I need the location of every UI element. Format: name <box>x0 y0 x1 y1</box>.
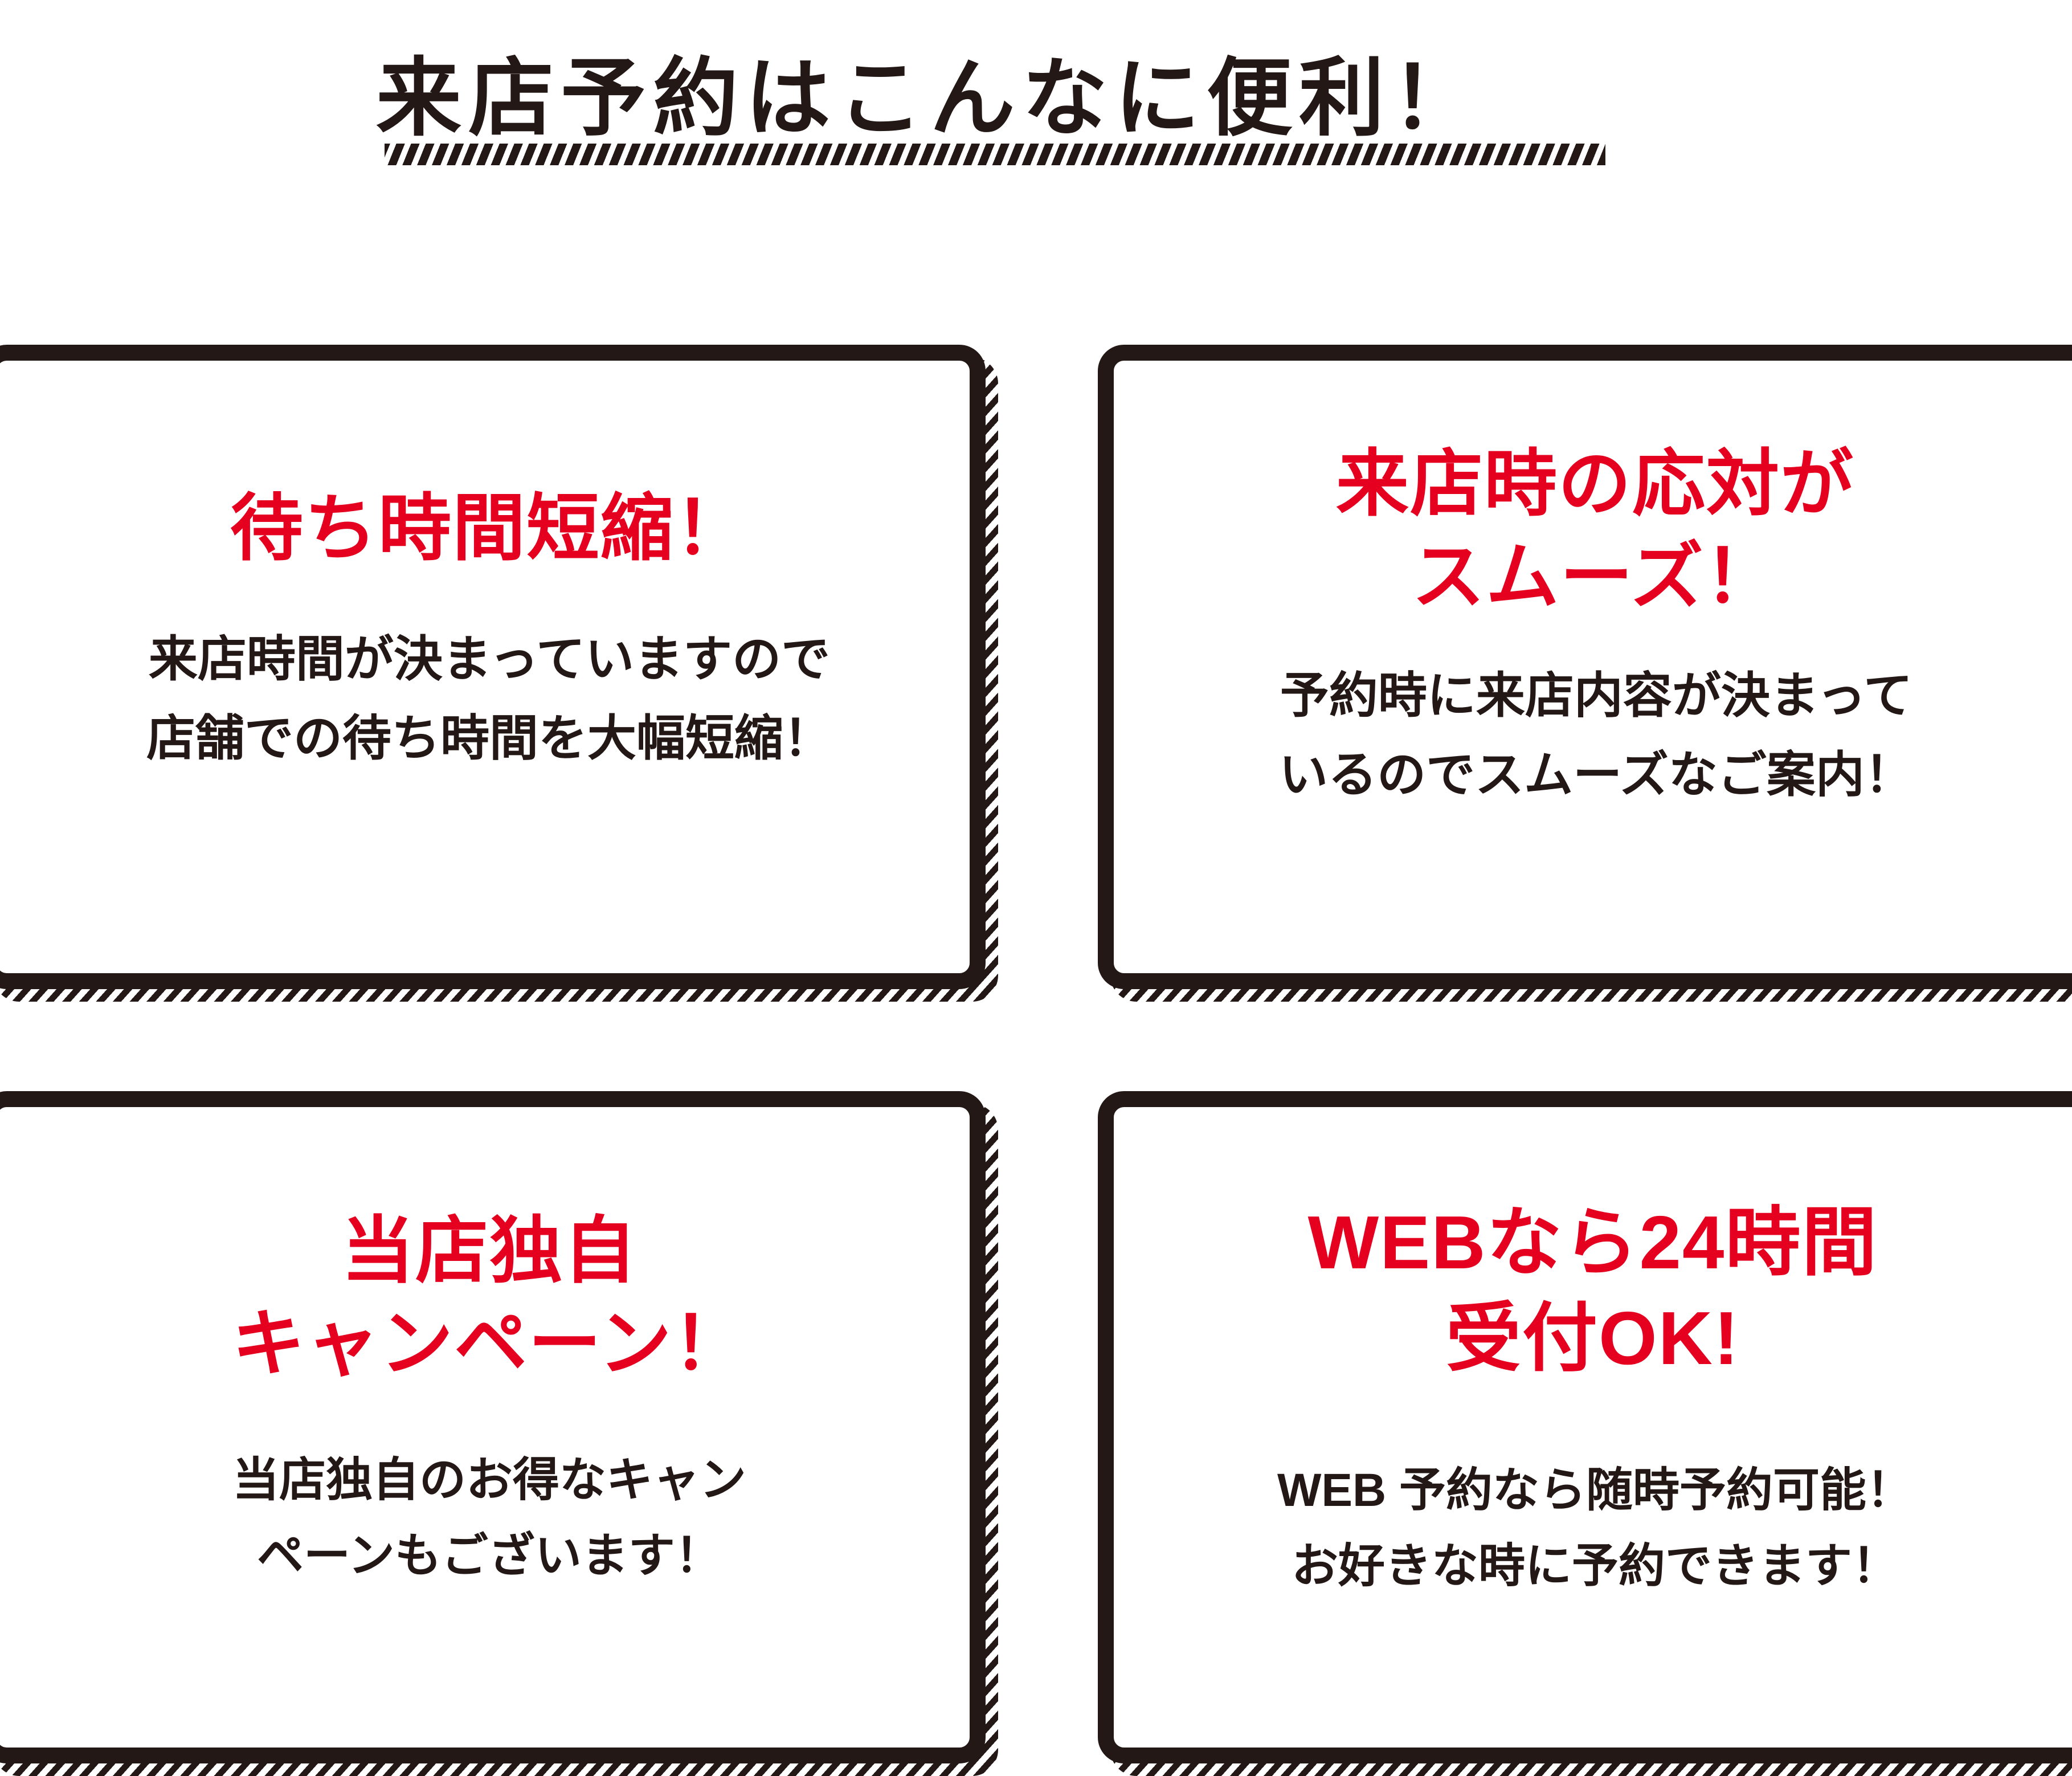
card-heading: 待ち時間短縮！ <box>230 483 749 575</box>
benefit-card-wait-time: 待ち時間短縮！ 来店時間が決まっていますので 店舗での待ち時間を大幅短縮！ <box>0 345 986 989</box>
card-body-text: WEB 予約なら随時予約可能！ お好きな時に予約できます！ <box>1277 1453 1913 1604</box>
page-title: 来店予約はこんなに便利！ <box>376 45 1483 152</box>
promo-benefits-page: 来店予約はこんなに便利！ 待ち時間短縮！ 来店時間が決まっていますので 店舗での… <box>0 0 2072 1743</box>
card-heading: 当店独自 キャンペーン！ <box>232 1205 747 1390</box>
card-body-text: 当店独自のお得なキャン ペーンもございます！ <box>232 1443 746 1594</box>
card-content: WEBなら24時間 受付OK! WEB 予約なら随時予約可能！ お好きな時に予約… <box>1114 1107 2072 1748</box>
card-content: 当店独自 キャンペーン！ 当店独自のお得なキャン ペーンもございます！ <box>0 1107 970 1748</box>
card-heading: WEBなら24時間 受付OK! <box>1308 1195 1878 1386</box>
benefit-card-campaign: 当店独自 キャンペーン！ 当店独自のお得なキャン ペーンもございます！ <box>0 1091 986 1763</box>
card-content: 来店時の応対が スムーズ！ 予約時に来店内容が決まって いるのでスムーズなご案内… <box>1114 361 2072 973</box>
title-underline-stripe-bar <box>385 144 1605 165</box>
benefit-card-smooth-service: 来店時の応対が スムーズ！ 予約時に来店内容が決まって いるのでスムーズなご案内… <box>1098 345 2072 989</box>
benefit-card-web-24h: WEBなら24時間 受付OK! WEB 予約なら随時予約可能！ お好きな時に予約… <box>1098 1091 2072 1763</box>
card-body-text: 予約時に来店内容が決まって いるのでスムーズなご案内！ <box>1279 656 1914 815</box>
card-heading: 来店時の応対が スムーズ！ <box>1336 438 1854 623</box>
card-content: 待ち時間短縮！ 来店時間が決まっていますので 店舗での待ち時間を大幅短縮！ <box>0 361 970 973</box>
card-body-text: 来店時間が決まっていますので 店舗での待ち時間を大幅短縮！ <box>146 620 832 779</box>
